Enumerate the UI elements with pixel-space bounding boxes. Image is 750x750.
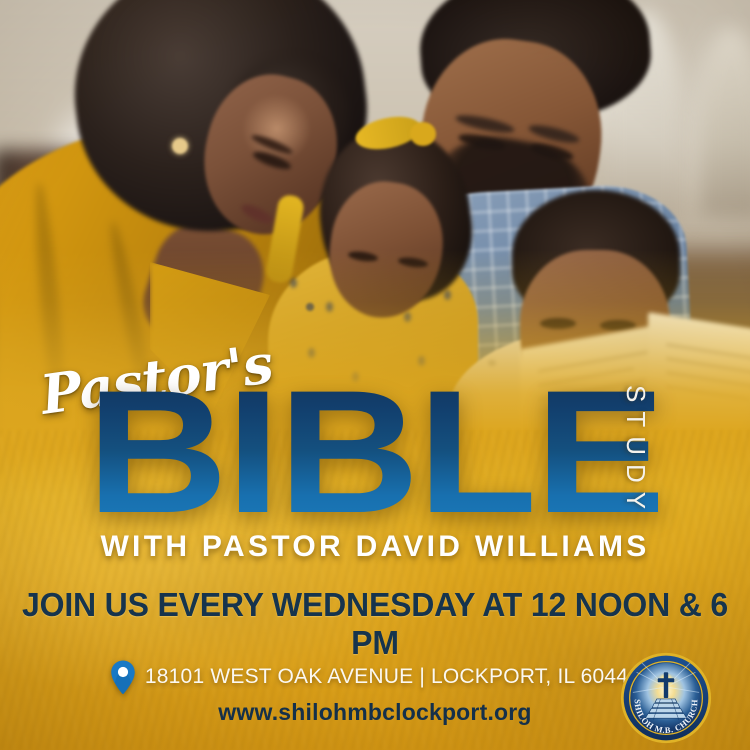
address-text: 18101 WEST OAK AVENUE | LOCKPORT, IL 604… xyxy=(145,665,640,689)
church-seal-icon: SHILOH M.B. CHURCH xyxy=(620,652,712,744)
schedule-line: JOIN US EVERY WEDNESDAY AT 12 NOON & 6 P… xyxy=(11,586,739,662)
vertical-word-study: STUDY xyxy=(620,385,651,520)
subheading-with-pastor: WITH PASTOR DAVID WILLIAMS xyxy=(0,530,750,564)
map-pin-icon xyxy=(110,660,136,694)
shiloh-mb-church-logo: SHILOH M.B. CHURCH xyxy=(620,652,712,744)
bible-study-flyer: Pastor's BIBLE STUDY WITH PASTOR DAVID W… xyxy=(0,0,750,750)
